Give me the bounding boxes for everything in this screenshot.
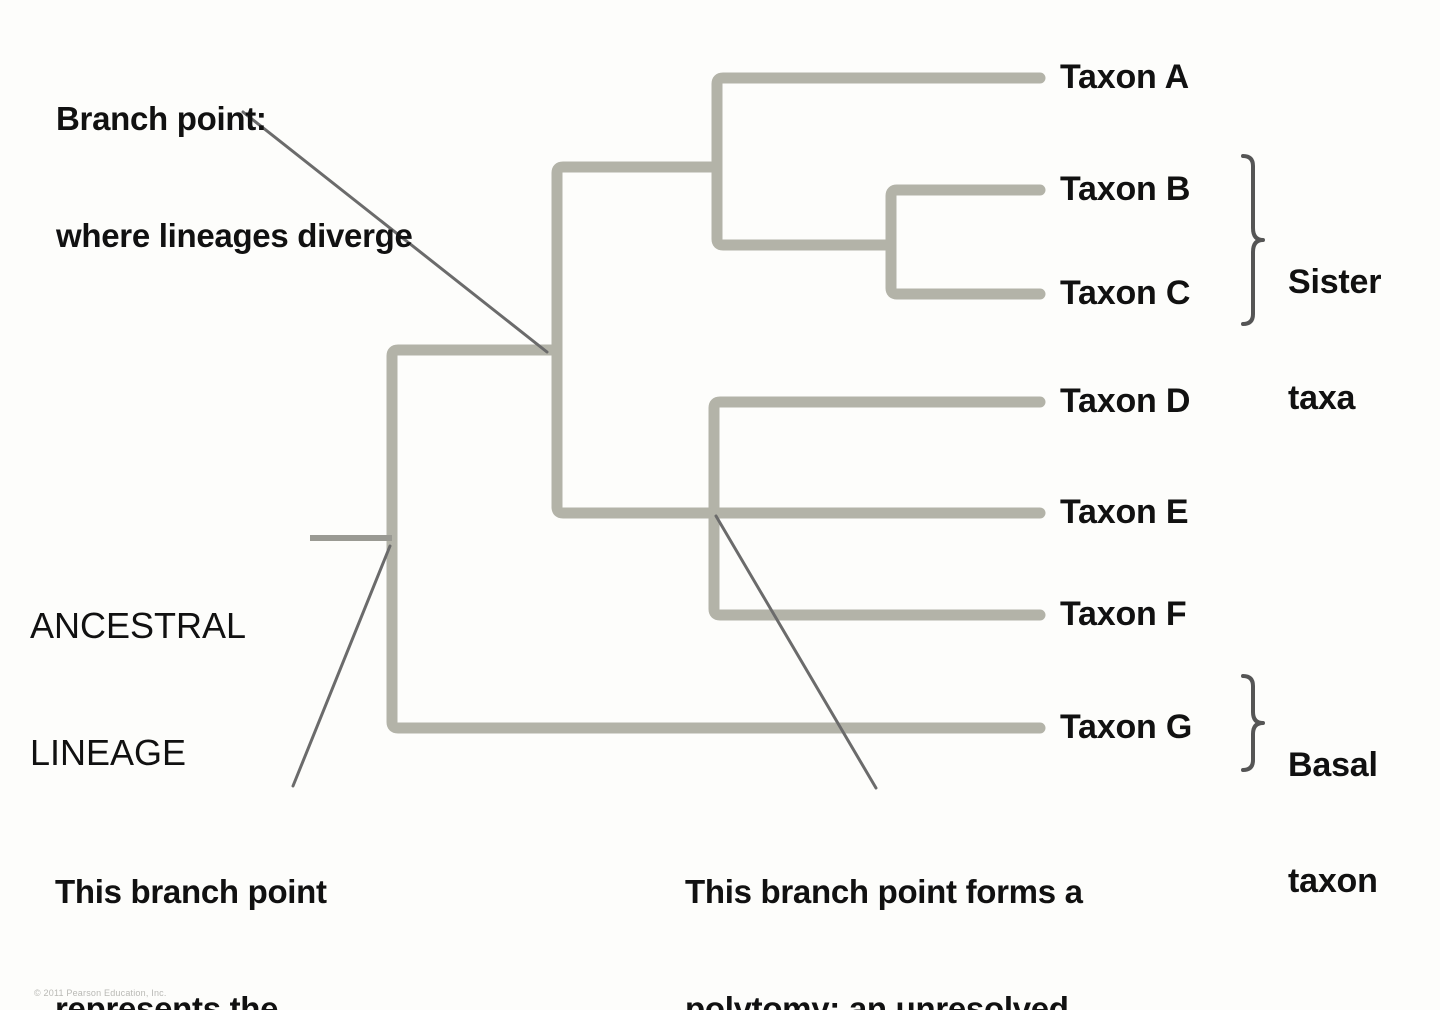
- taxon-label-f: Taxon F: [1060, 595, 1186, 633]
- bracket-label-sister-taxa-line1: Sister: [1288, 263, 1381, 302]
- bracket-label-basal-taxon: Basal taxon: [1288, 668, 1378, 978]
- taxon-label-b: Taxon B: [1060, 170, 1190, 208]
- branch-node-abc: [717, 78, 1040, 245]
- bracket-label-basal-taxon-line2: taxon: [1288, 862, 1378, 901]
- taxon-label-d: Taxon D: [1060, 382, 1190, 420]
- callout-common-ancestor: This branch point represents the common …: [55, 795, 374, 1010]
- taxon-label-e: Taxon E: [1060, 493, 1188, 531]
- bracket-sister-taxa: [1243, 156, 1263, 324]
- taxon-label-c: Taxon C: [1060, 274, 1190, 312]
- bracket-label-basal-taxon-line1: Basal: [1288, 746, 1378, 785]
- leader-polytomy: [716, 516, 876, 788]
- branch-node-abcdef: [557, 167, 717, 513]
- label-ancestral-lineage-line2: LINEAGE: [30, 732, 246, 774]
- callout-common-ancestor-line1: This branch point: [55, 873, 374, 912]
- callout-branch-point-line1: Branch point:: [56, 100, 413, 139]
- callout-branch-point-line2: where lineages diverge: [56, 217, 413, 256]
- leader-common-ancestor: [293, 546, 390, 786]
- callout-branch-point: Branch point: where lineages diverge: [56, 22, 413, 334]
- bracket-label-sister-taxa: Sister taxa: [1288, 185, 1381, 495]
- label-ancestral-lineage-line1: ANCESTRAL: [30, 605, 246, 647]
- branch-node-bc: [891, 190, 1040, 294]
- callout-polytomy: This branch point forms a polytomy: an u…: [685, 795, 1083, 1010]
- credit-line: © 2011 Pearson Education, Inc.: [34, 988, 167, 998]
- bracket-basal-taxon: [1243, 676, 1263, 770]
- taxon-label-a: Taxon A: [1060, 58, 1189, 96]
- phylogenetic-tree-figure: Branch point: where lineages diverge ANC…: [0, 0, 1440, 1010]
- taxon-label-g: Taxon G: [1060, 708, 1192, 746]
- callout-polytomy-line2: polytomy: an unresolved: [685, 990, 1083, 1010]
- callout-polytomy-line1: This branch point forms a: [685, 873, 1083, 912]
- bracket-label-sister-taxa-line2: taxa: [1288, 379, 1381, 418]
